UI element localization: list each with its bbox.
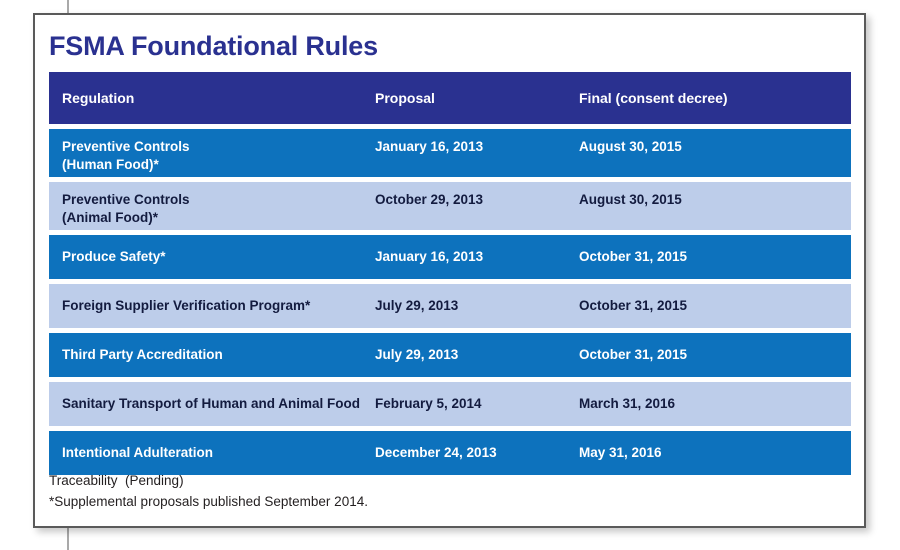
cell-regulation: Preventive Controls (Human Food)* [49, 129, 375, 174]
cell-final: May 31, 2016 [579, 444, 851, 462]
table-row: Preventive Controls (Animal Food)* Octob… [49, 182, 851, 230]
table-row: Preventive Controls (Human Food)* Januar… [49, 129, 851, 177]
cell-final: March 31, 2016 [579, 395, 851, 413]
footnote-traceability: Traceability (Pending) [49, 470, 749, 491]
column-header-proposal: Proposal [375, 89, 579, 108]
cell-final: October 31, 2015 [579, 346, 851, 364]
cell-regulation: Foreign Supplier Verification Program* [49, 297, 375, 315]
cell-proposal: January 16, 2013 [375, 129, 579, 156]
cell-proposal: January 16, 2013 [375, 248, 579, 266]
table-row: Third Party Accreditation July 29, 2013 … [49, 333, 851, 377]
cell-regulation: Third Party Accreditation [49, 346, 375, 364]
table-header-row: Regulation Proposal Final (consent decre… [49, 72, 851, 124]
cell-final: October 31, 2015 [579, 248, 851, 266]
cell-final: August 30, 2015 [579, 129, 851, 156]
table-footnotes: Traceability (Pending) *Supplemental pro… [49, 470, 749, 513]
column-header-regulation: Regulation [49, 89, 375, 108]
cell-proposal: July 29, 2013 [375, 297, 579, 315]
cell-proposal: February 5, 2014 [375, 395, 579, 413]
column-header-final: Final (consent decree) [579, 89, 851, 108]
fsma-rules-card: FSMA Foundational Rules Regulation Propo… [33, 13, 866, 528]
fsma-rules-table: Regulation Proposal Final (consent decre… [49, 72, 851, 480]
cell-proposal: July 29, 2013 [375, 346, 579, 364]
table-row: Intentional Adulteration December 24, 20… [49, 431, 851, 475]
cell-final: August 30, 2015 [579, 182, 851, 209]
cell-regulation: Preventive Controls (Animal Food)* [49, 182, 375, 227]
page-title: FSMA Foundational Rules [49, 31, 378, 62]
table-row: Foreign Supplier Verification Program* J… [49, 284, 851, 328]
table-row: Sanitary Transport of Human and Animal F… [49, 382, 851, 426]
table-row: Produce Safety* January 16, 2013 October… [49, 235, 851, 279]
page-canvas: FSMA Foundational Rules Regulation Propo… [0, 0, 900, 550]
cell-proposal: October 29, 2013 [375, 182, 579, 209]
cell-final: October 31, 2015 [579, 297, 851, 315]
footnote-supplemental: *Supplemental proposals published Septem… [49, 491, 749, 512]
cell-regulation: Sanitary Transport of Human and Animal F… [49, 395, 375, 413]
cell-proposal: December 24, 2013 [375, 444, 579, 462]
cell-regulation: Intentional Adulteration [49, 444, 375, 462]
cell-regulation: Produce Safety* [49, 248, 375, 266]
